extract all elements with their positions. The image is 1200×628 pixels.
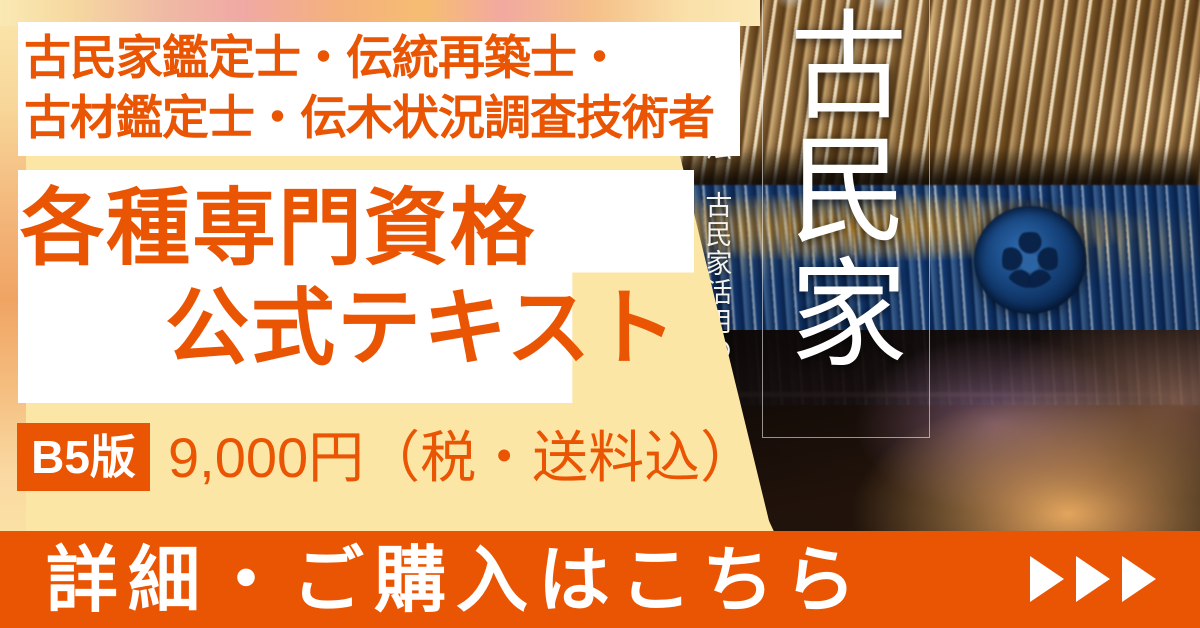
- book-cover-title: 古民家: [784, 4, 908, 376]
- cta-label[interactable]: 詳細・ご購入はこちら: [46, 538, 866, 624]
- cta-arrows: [1030, 556, 1156, 602]
- promo-banner: 伝統構法 古民家活用のための調査と再生の 古民家 古民家鑑定士・伝統再築士・ 古…: [0, 0, 1200, 628]
- title-line-1: 各種専門資格: [20, 186, 536, 270]
- triangle-right-icon: [1122, 556, 1156, 602]
- headline-line-2: 古材鑑定士・伝木状況調査技術者: [18, 88, 738, 148]
- triangle-right-icon: [1030, 556, 1064, 602]
- triangle-right-icon: [1076, 556, 1110, 602]
- headline: 古民家鑑定士・伝統再築士・ 古材鑑定士・伝木状況調査技術者: [18, 28, 738, 148]
- headline-line-1: 古民家鑑定士・伝統再築士・: [18, 28, 738, 88]
- format-badge: B5版: [17, 423, 150, 491]
- price-label: 9,000円（税・送料込）: [168, 426, 756, 490]
- title-line-2: 公式テキスト: [165, 286, 678, 370]
